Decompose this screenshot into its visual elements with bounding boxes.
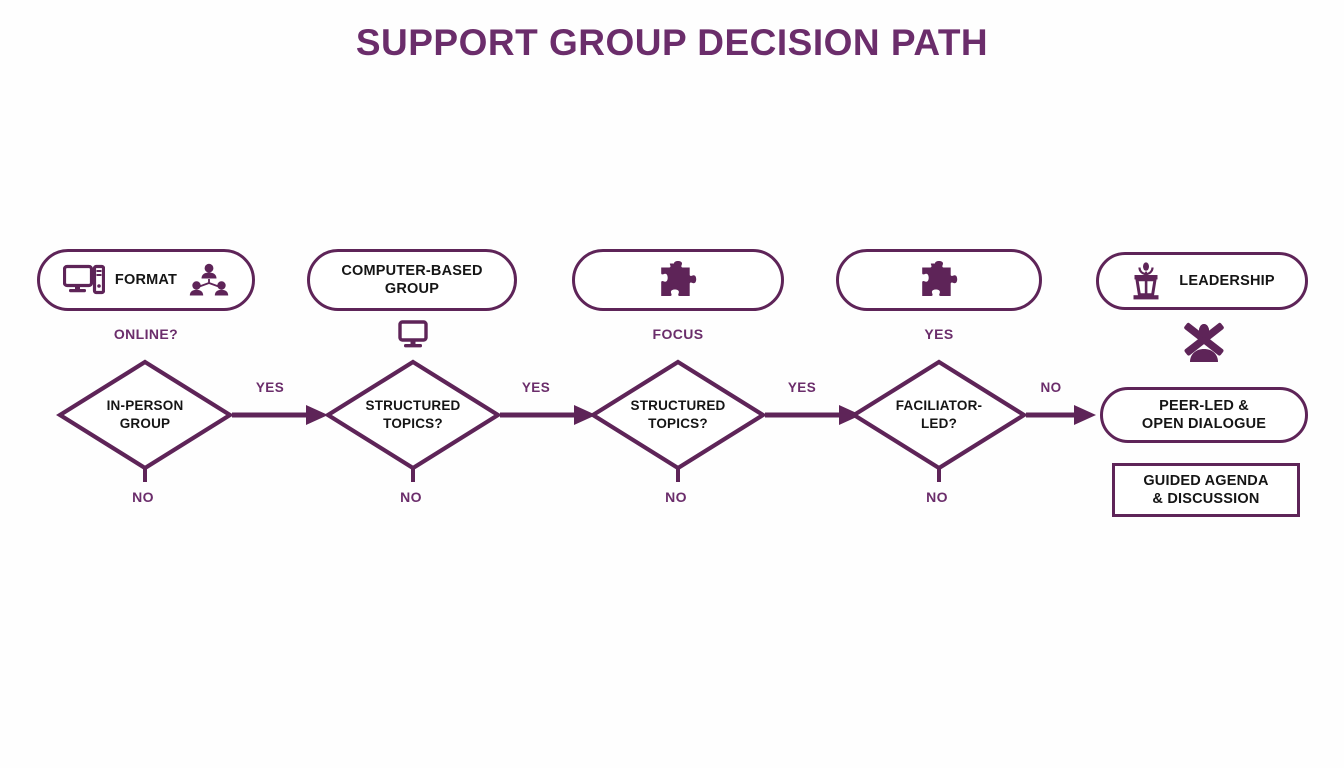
page-title: SUPPORT GROUP DECISION PATH — [0, 22, 1344, 64]
connector-no-stub-2 — [411, 466, 415, 482]
label-no-2: NO — [381, 489, 441, 505]
monitor-icon — [398, 320, 428, 350]
node-guided-agenda-label: GUIDED AGENDA & DISCUSSION — [1143, 472, 1268, 508]
podium-speaker-icon — [1129, 262, 1163, 300]
teamwork-person-icon — [1180, 322, 1228, 368]
connector-no-stub-3 — [676, 466, 680, 482]
node-leadership-pill[interactable]: LEADERSHIP — [1096, 252, 1308, 310]
node-format-pill[interactable]: FORMAT — [37, 249, 255, 311]
node-computer-based-label: COMPUTER-BASED GROUP — [341, 262, 482, 298]
connector-no-stub-1 — [143, 466, 147, 482]
node-peer-led-line-1: PEER-LED & — [1159, 398, 1249, 414]
node-guided-agenda-line-1: GUIDED AGENDA — [1143, 473, 1268, 489]
people-group-icon — [189, 263, 229, 297]
node-computer-based-line-1: COMPUTER-BASED — [341, 263, 482, 279]
decision-in-person-group[interactable]: IN-PERSON GROUP — [56, 358, 234, 472]
decision-faciliator-led[interactable]: FACILIATOR- LED? — [850, 358, 1028, 472]
node-leadership-label: LEADERSHIP — [1179, 272, 1274, 290]
node-guided-agenda-line-2: & DISCUSSION — [1152, 491, 1259, 507]
connector-arrow-2 — [500, 400, 596, 430]
puzzle-piece-icon — [658, 261, 698, 299]
label-no-4: NO — [907, 489, 967, 505]
caption-yes-above-faciliator: YES — [884, 326, 994, 342]
node-guided-agenda-box[interactable]: GUIDED AGENDA & DISCUSSION — [1112, 463, 1300, 517]
label-no-1: NO — [113, 489, 173, 505]
connector-arrow-4 — [1026, 400, 1096, 430]
node-format-label: FORMAT — [115, 271, 177, 289]
node-focus-pill[interactable] — [572, 249, 784, 311]
connector-no-stub-4 — [937, 466, 941, 482]
label-no-3: NO — [646, 489, 706, 505]
label-arrow-3: YES — [772, 380, 832, 395]
decision-structured-topics-1[interactable]: STRUCTURED TOPICS? — [324, 358, 502, 472]
node-peer-led-pill[interactable]: PEER-LED & OPEN DIALOGUE — [1100, 387, 1308, 443]
label-arrow-1: YES — [240, 380, 300, 395]
label-arrow-2: YES — [506, 380, 566, 395]
caption-focus: FOCUS — [618, 326, 738, 342]
node-peer-led-line-2: OPEN DIALOGUE — [1142, 416, 1266, 432]
node-yes-pill[interactable] — [836, 249, 1042, 311]
decision-structured-topics-2[interactable]: STRUCTURED TOPICS? — [589, 358, 767, 472]
desktop-computer-icon — [63, 264, 105, 296]
diagram-canvas: SUPPORT GROUP DECISION PATH FORMAT — [0, 0, 1344, 768]
node-computer-based-line-2: GROUP — [385, 281, 439, 297]
node-peer-led-label: PEER-LED & OPEN DIALOGUE — [1142, 397, 1266, 433]
connector-arrow-1 — [232, 400, 328, 430]
label-arrow-4: NO — [1026, 380, 1076, 395]
connector-arrow-3 — [765, 400, 861, 430]
caption-online: ONLINE? — [86, 326, 206, 342]
puzzle-piece-icon — [919, 261, 959, 299]
node-computer-based-pill[interactable]: COMPUTER-BASED GROUP — [307, 249, 517, 311]
